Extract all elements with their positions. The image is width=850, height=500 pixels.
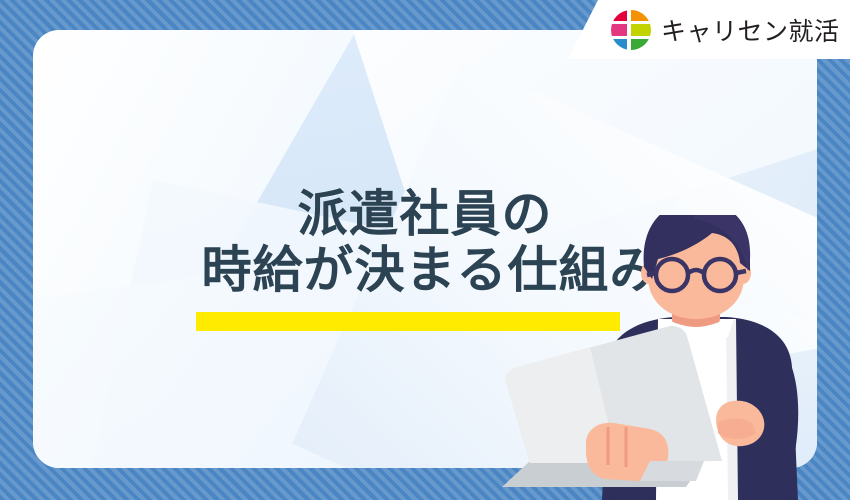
laptop-front-lip [640, 461, 704, 481]
pinwheel-circle-icon [610, 9, 652, 51]
logo-plate[interactable]: キャリセン就活 [568, 0, 850, 59]
logo-text: キャリセン就活 [661, 12, 840, 48]
banner-canvas: 派遣社員の 時給が決まる仕組み [0, 0, 850, 500]
man-with-laptop-illustration [490, 215, 850, 500]
